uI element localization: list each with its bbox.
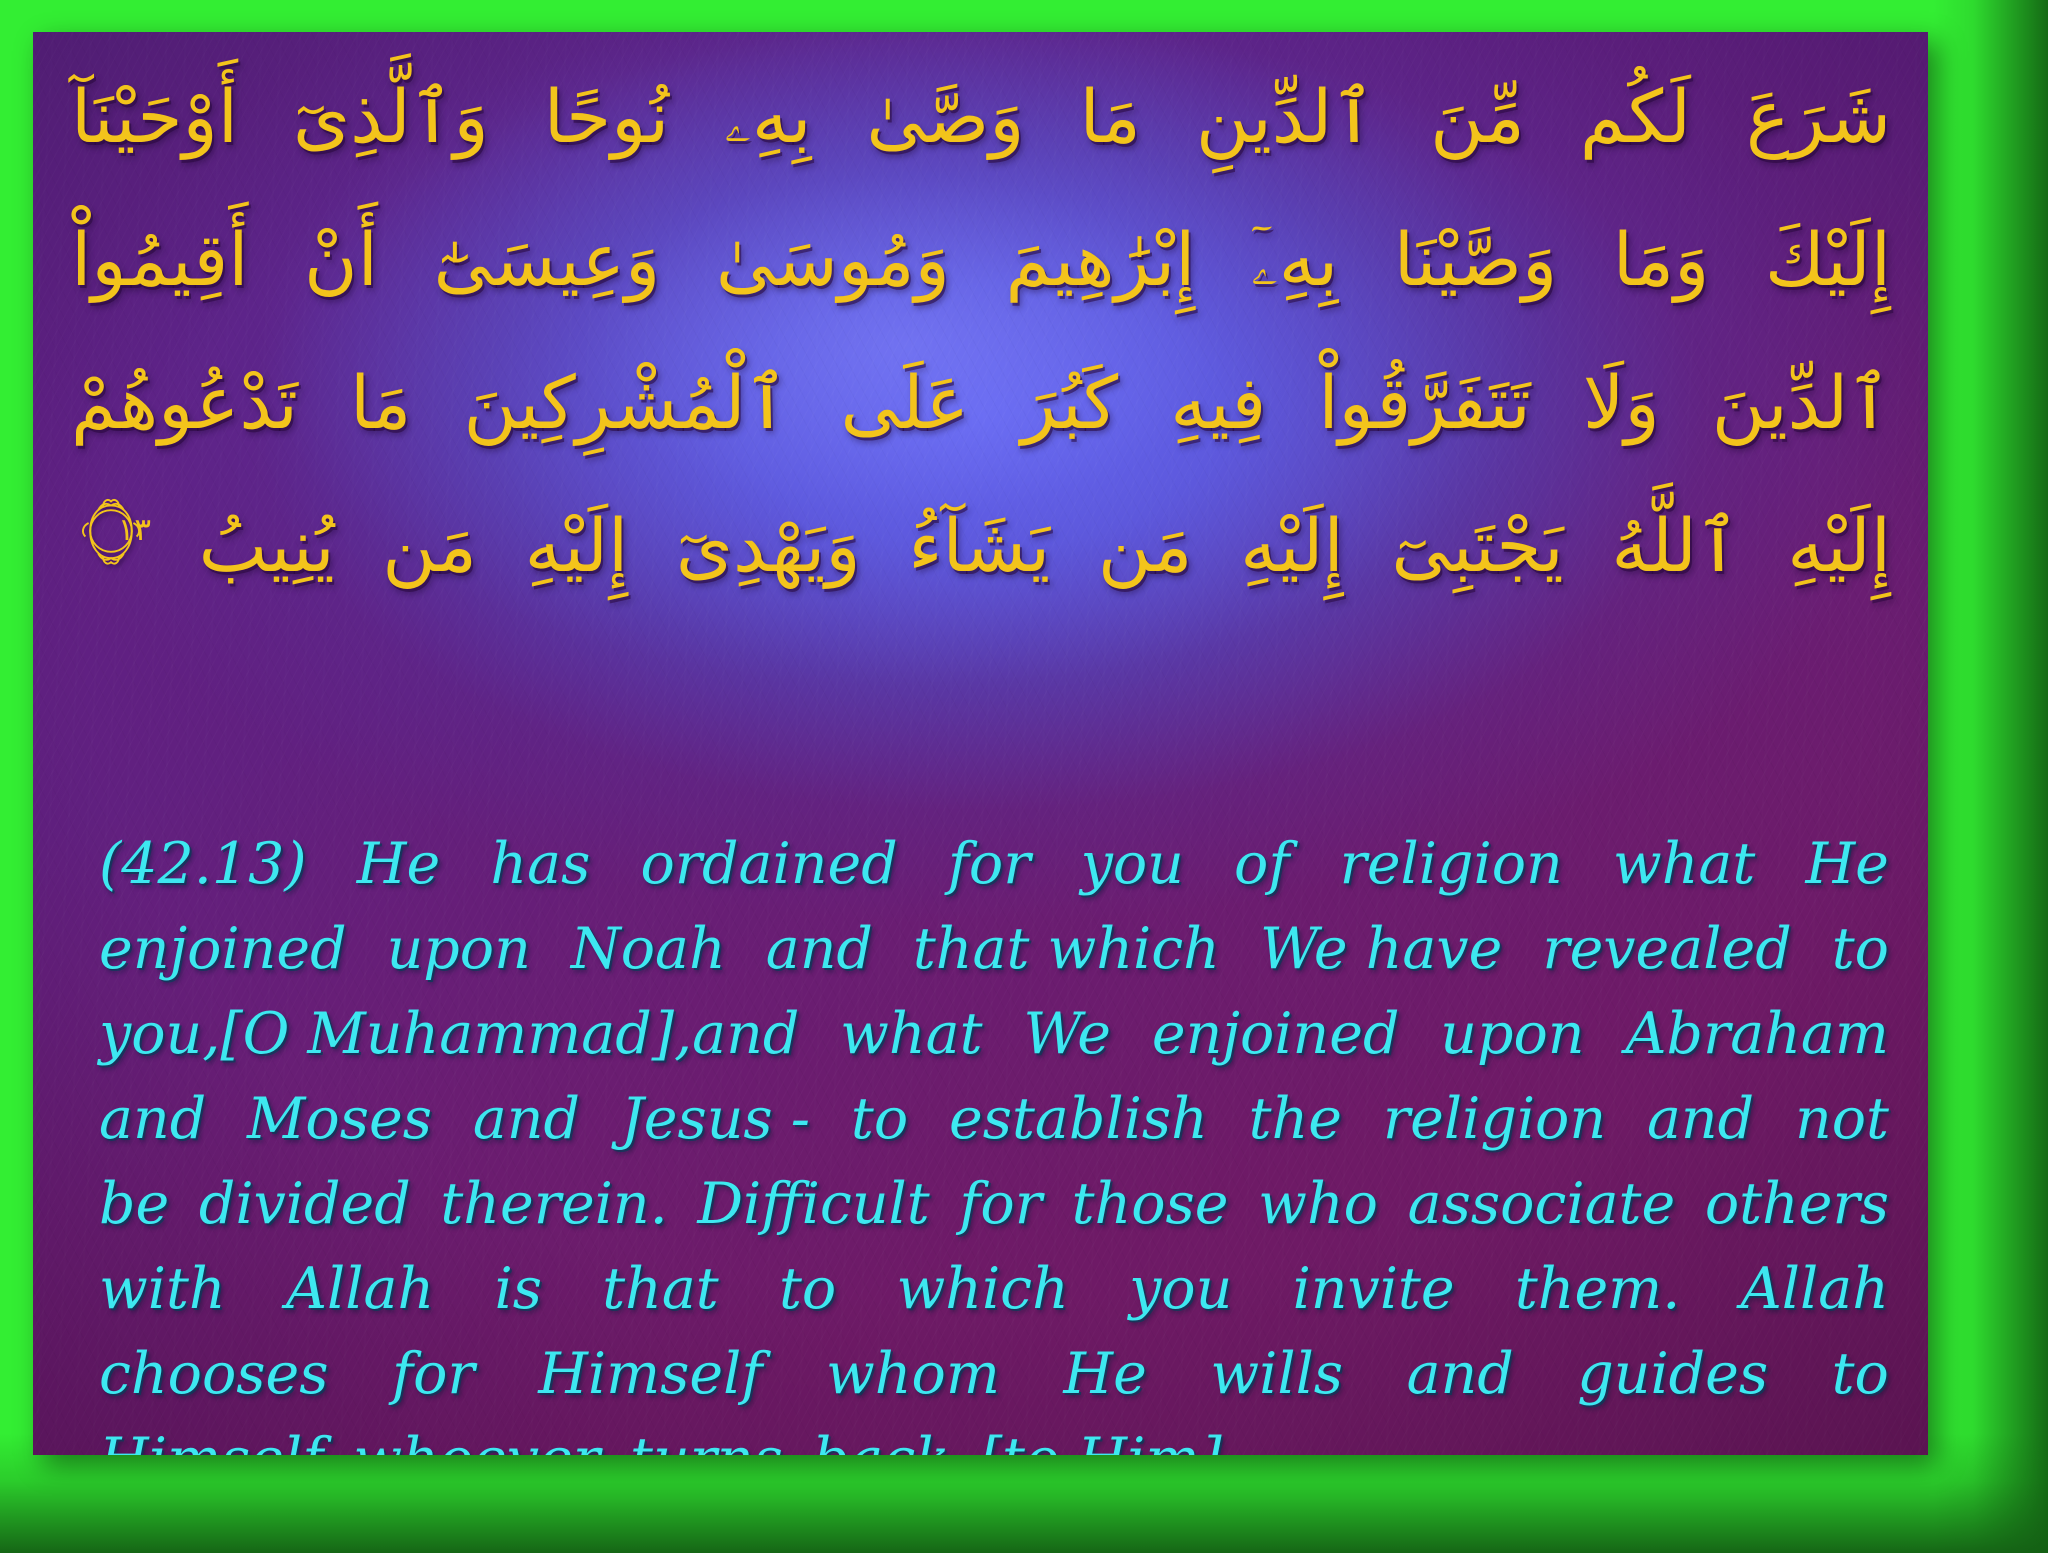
english-word: and <box>1407 1332 1514 1417</box>
arabic-word: أَوْحَيْنَآ <box>71 46 238 189</box>
arabic-word: يُنِيبُ <box>199 475 335 618</box>
english-word: to <box>1832 907 1889 992</box>
arabic-word: مِّنَ <box>1430 46 1525 189</box>
english-word: Himself <box>538 1332 762 1417</box>
english-word: you,[O Muhammad],and <box>99 992 799 1077</box>
english-word: who <box>1258 1162 1378 1247</box>
arabic-word: بِهِۦ <box>724 46 811 189</box>
english-word: whom <box>826 1332 1000 1417</box>
arabic-word: نُوحًا <box>544 46 669 189</box>
english-word: you <box>1081 822 1184 907</box>
arabic-word: ٱلدِّينِ <box>1196 46 1375 189</box>
english-word: to <box>1832 1332 1889 1417</box>
english-line-7: chooses for Himself whom He wills and gu… <box>99 1332 1889 1417</box>
english-word: ordained <box>640 822 897 907</box>
arabic-word: مَن <box>382 475 477 618</box>
arabic-word: بِهِۦٓ <box>1251 189 1338 332</box>
english-word: wills <box>1210 1332 1343 1417</box>
english-word: We <box>1023 992 1111 1077</box>
arabic-word: فِيهِ <box>1170 332 1266 475</box>
ayah-end-marker-icon: ١٣ <box>71 491 151 571</box>
english-word: to <box>851 1077 908 1162</box>
english-line-2: enjoined upon Noah and that which We hav… <box>99 907 1889 992</box>
english-word: upon <box>1440 992 1584 1077</box>
english-word: and <box>473 1077 580 1162</box>
english-word: He <box>357 822 440 907</box>
arabic-word: عَلَى <box>840 332 969 475</box>
arabic-word: أَنْ <box>304 189 378 332</box>
english-word: invite <box>1293 1247 1455 1332</box>
english-word: Moses <box>247 1077 432 1162</box>
arabic-word: وَصَّيْنَا <box>1394 189 1558 332</box>
english-line-4: and Moses and Jesus - to establish the r… <box>99 1077 1889 1162</box>
english-word: therein. <box>440 1162 667 1247</box>
english-word: for <box>948 822 1031 907</box>
arabic-word: مَن <box>1098 475 1193 618</box>
english-word: Allah <box>1741 1247 1889 1332</box>
frame-shadow-right <box>1933 0 2048 1553</box>
english-word: that which <box>913 907 1220 992</box>
english-word: Abraham <box>1625 992 1889 1077</box>
arabic-word: إِلَيْهِ <box>1240 475 1344 618</box>
english-word: Noah <box>571 907 726 992</box>
english-word: for <box>959 1162 1042 1247</box>
english-word: that <box>602 1247 719 1332</box>
english-word: be <box>99 1162 169 1247</box>
english-word: others <box>1705 1162 1889 1247</box>
arabic-word: وَٱلَّذِىٓ <box>293 46 489 189</box>
english-word: for <box>392 1332 475 1417</box>
english-word: to <box>779 1247 836 1332</box>
english-word: turns <box>630 1417 783 1455</box>
english-word: Difficult <box>697 1162 929 1247</box>
arabic-word: وَمَا <box>1613 189 1710 332</box>
english-word: Allah <box>286 1247 434 1332</box>
arabic-word: تَدْعُوهُمْ <box>71 332 298 475</box>
english-word: establish <box>949 1077 1208 1162</box>
english-word: religion <box>1383 1077 1606 1162</box>
english-translation-block: (42.13) He has ordained for you of relig… <box>99 822 1889 1455</box>
arabic-word: إِبْرَٰهِيمَ <box>1005 189 1195 332</box>
ayah-number: ١٣ <box>71 515 151 546</box>
english-word: enjoined <box>1152 992 1400 1077</box>
english-word: and <box>99 1077 206 1162</box>
arabic-line-3: ٱلدِّينَ وَلَا تَتَفَرَّقُواْ فِيهِ كَبُ… <box>71 332 1891 475</box>
english-word: what <box>1613 822 1755 907</box>
english-word: Jesus - <box>621 1077 810 1162</box>
arabic-verse-block: شَرَعَ لَكُم مِّنَ ٱلدِّينِ مَا وَصَّىٰ … <box>71 46 1891 618</box>
arabic-word: وَيَهْدِىٓ <box>676 475 861 618</box>
english-word: [to Him]. <box>980 1417 1240 1455</box>
english-line-8: Himself whoever turns back [to Him]. <box>99 1417 1889 1455</box>
arabic-line-2: إِلَيْكَ وَمَا وَصَّيْنَا بِهِۦٓ إِبْرَٰ… <box>71 189 1891 332</box>
english-word: and <box>1647 1077 1754 1162</box>
english-word: whoever <box>353 1417 600 1455</box>
english-word: upon <box>387 907 531 992</box>
english-word: not <box>1795 1077 1889 1162</box>
english-word: you <box>1129 1247 1232 1332</box>
english-word: those <box>1072 1162 1229 1247</box>
english-line-6: with Allah is that to which you invite t… <box>99 1247 1889 1332</box>
english-line-3: you,[O Muhammad],and what We enjoined up… <box>99 992 1889 1077</box>
english-word: divided <box>199 1162 411 1247</box>
arabic-word: إِلَيْكَ <box>1765 189 1891 332</box>
arabic-word: يَجْتَبِىٓ <box>1391 475 1563 618</box>
english-line-1: (42.13) He has ordained for you of relig… <box>99 822 1889 907</box>
arabic-word: لَكُم <box>1580 46 1691 189</box>
arabic-word: ٱلدِّينَ <box>1712 332 1891 475</box>
english-word: chooses <box>99 1332 329 1417</box>
english-word: revealed <box>1542 907 1791 992</box>
english-word: Himself <box>99 1417 323 1455</box>
english-word: and <box>766 907 873 992</box>
english-word: We have <box>1260 907 1502 992</box>
english-word: religion <box>1340 822 1563 907</box>
english-word: He <box>1063 1332 1146 1417</box>
arabic-word: شَرَعَ <box>1746 46 1891 189</box>
arabic-word: إِلَيْهِ <box>525 475 629 618</box>
english-word: enjoined <box>99 907 347 992</box>
arabic-word: ٱلْمُشْرِكِينَ <box>463 332 788 475</box>
english-word: with <box>99 1247 226 1332</box>
arabic-word: أَقِيمُواْ <box>71 189 248 332</box>
verse-card: شَرَعَ لَكُم مِّنَ ٱلدِّينِ مَا وَصَّىٰ … <box>33 32 1928 1455</box>
english-word: what <box>840 992 982 1077</box>
arabic-word: يَشَآءُ <box>908 475 1050 618</box>
arabic-word: مَا <box>1080 46 1141 189</box>
verse-card-stage: شَرَعَ لَكُم مِّنَ ٱلدِّينِ مَا وَصَّىٰ … <box>0 0 2048 1553</box>
english-word: He <box>1805 822 1888 907</box>
english-word: of <box>1234 822 1289 907</box>
arabic-word: وَعِيسَىٰٓ <box>433 189 660 332</box>
arabic-line-4: إِلَيْهِ ٱللَّهُ يَجْتَبِىٓ إِلَيْهِ مَن… <box>71 475 1891 618</box>
arabic-word: وَلَا <box>1583 332 1660 475</box>
english-word: back <box>813 1417 950 1455</box>
english-line-5: be divided therein. Difficult for those … <box>99 1162 1889 1247</box>
arabic-word: تَتَفَرَّقُواْ <box>1318 332 1530 475</box>
english-word: guides <box>1577 1332 1768 1417</box>
arabic-word: مَا <box>350 332 411 475</box>
english-word: which <box>896 1247 1068 1332</box>
english-word: the <box>1249 1077 1342 1162</box>
arabic-word: وَصَّىٰ <box>866 46 1024 189</box>
english-word: is <box>494 1247 541 1332</box>
arabic-word: ٱللَّهُ <box>1611 475 1739 618</box>
arabic-word: إِلَيْهِ <box>1787 475 1891 618</box>
verse-reference: (42.13) <box>99 822 307 907</box>
english-word: has <box>490 822 590 907</box>
arabic-word: وَمُوسَىٰ <box>716 189 950 332</box>
arabic-word: كَبُرَ <box>1021 332 1118 475</box>
english-word: them. <box>1515 1247 1681 1332</box>
arabic-line-1: شَرَعَ لَكُم مِّنَ ٱلدِّينِ مَا وَصَّىٰ … <box>71 46 1891 189</box>
english-word: associate <box>1408 1162 1676 1247</box>
